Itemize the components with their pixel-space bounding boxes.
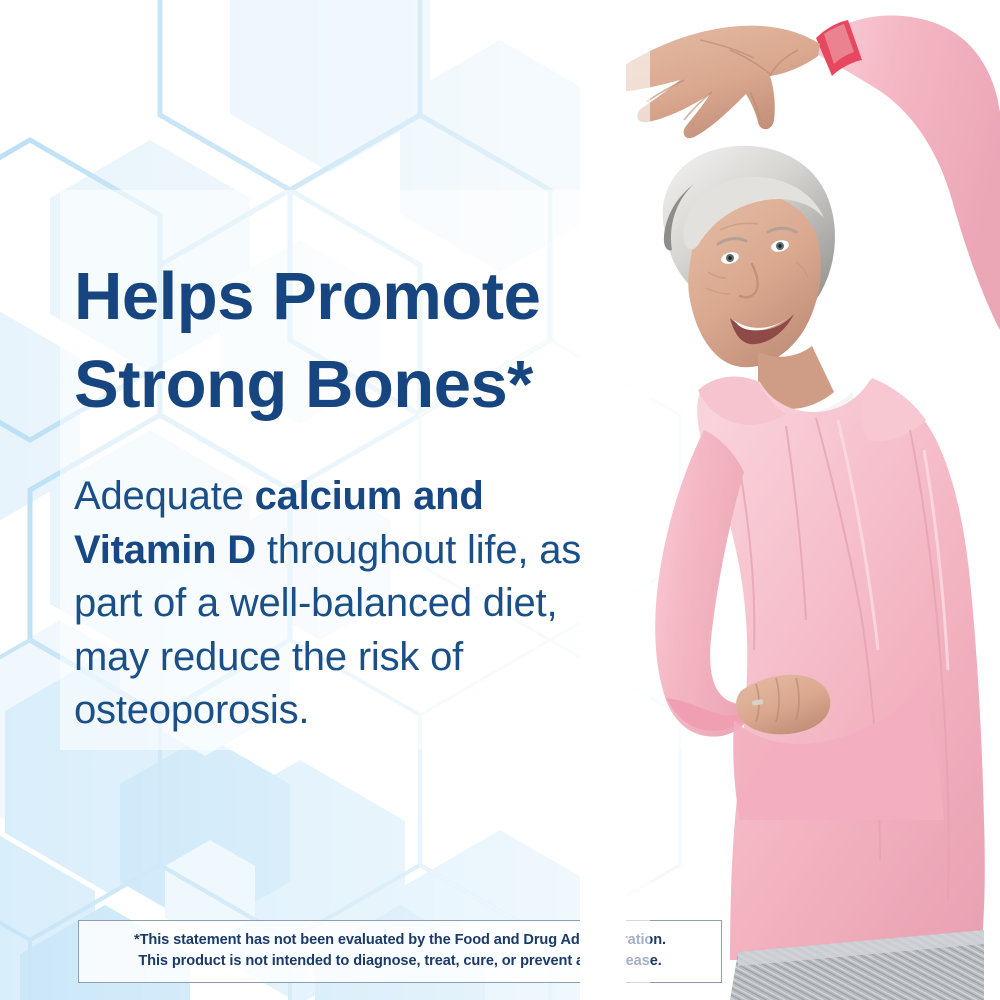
body-copy: Adequate calcium and Vitamin D throughou… [74,470,604,738]
head [663,146,835,367]
promo-banner: Helps Promote Strong Bones* Adequate cal… [0,0,1000,1000]
body-copy-part-1: Adequate [74,474,255,518]
lifestyle-photo-stretching-woman [580,0,1000,1000]
